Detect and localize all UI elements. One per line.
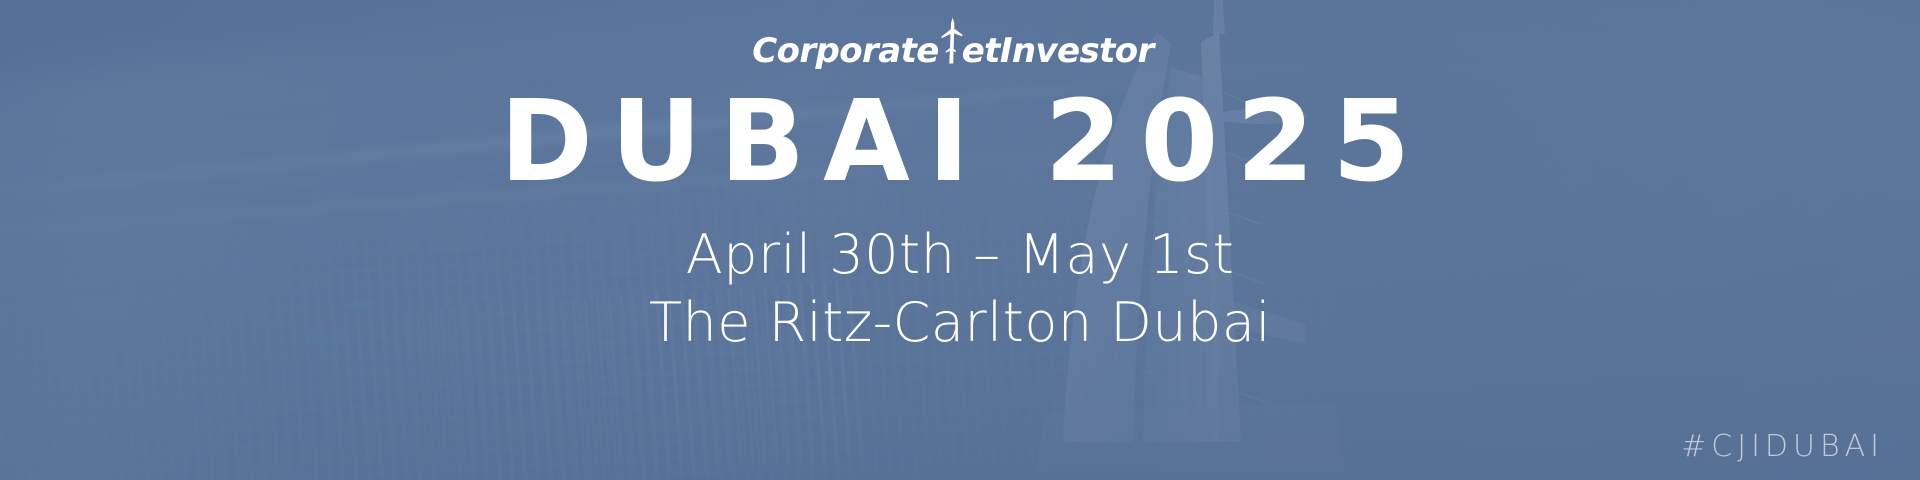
event-dates: April 30th – May 1st (0, 224, 1920, 286)
event-banner: CorporateetInvestor DUBAI 2025 April 30t… (0, 0, 1920, 480)
brand-logo-wordmark: CorporateetInvestor (752, 28, 1153, 68)
brand-logo-part-corporate: Corporate (752, 34, 938, 68)
banner-content: CorporateetInvestor DUBAI 2025 April 30t… (0, 0, 1920, 480)
event-venue: The Ritz-Carlton Dubai (0, 292, 1920, 354)
brand-logo-part-et: et (962, 34, 1000, 68)
brand-logo[interactable]: CorporateetInvestor (0, 18, 1920, 68)
event-hashtag: #CJIDUBAI (1681, 432, 1884, 462)
brand-logo-part-investor: Investor (1000, 34, 1154, 68)
jet-aircraft-icon (937, 30, 963, 64)
page-title: DUBAI 2025 (0, 86, 1920, 198)
